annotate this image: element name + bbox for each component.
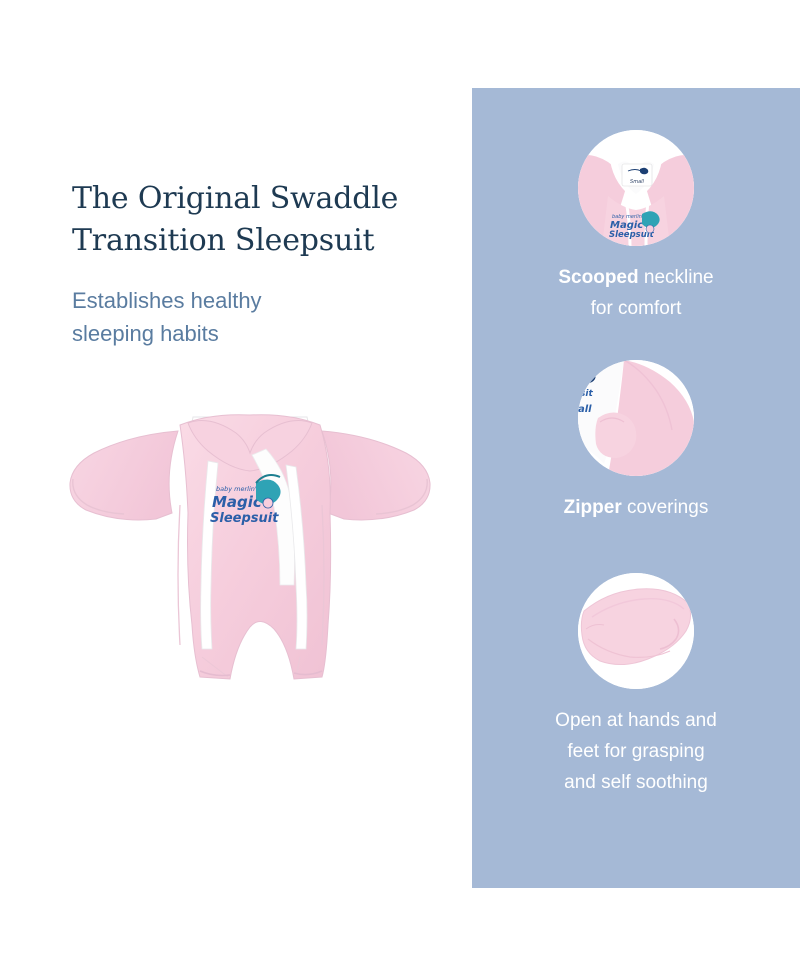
page-title-line-1: The Original Swaddle [72,178,452,220]
caption-line: Zipper coverings [472,492,800,523]
page-subtitle-line-1: Establishes healthy [72,284,412,317]
svg-text:sit: sit [580,389,593,399]
caption-line: Open at hands and [472,705,800,736]
page-title: The Original Swaddle Transition Sleepsui… [72,178,452,262]
svg-text:Sleepsuit: Sleepsuit [210,511,279,526]
svg-text:Small: Small [630,179,644,185]
feature-item-zipper-coverings: sit all Zipper coverings [472,360,800,523]
features-panel: Small baby merlin's Magic Sleepsuit Scoo… [472,88,800,888]
open-hands-feet-cuff-closeup-image [578,573,694,689]
feature-caption-open-hands-feet: Open at hands and feet for grasping and … [472,705,800,798]
product-image-sleepsuit: Small [60,395,440,785]
svg-text:Magic: Magic [212,493,262,511]
caption-line: and self soothing [472,767,800,798]
page-subtitle: Establishes healthy sleeping habits [72,284,412,350]
zipper-covering-closeup-image: sit all [578,360,694,476]
caption-rest: and self soothing [564,772,708,793]
caption-rest: feet for grasping [567,741,704,762]
page-subtitle-line-2: sleeping habits [72,317,412,350]
caption-line: feet for grasping [472,736,800,767]
svg-text:baby merlin's: baby merlin's [216,485,261,493]
feature-caption-zipper-coverings: Zipper coverings [472,492,800,523]
left-content-column: The Original Swaddle Transition Sleepsui… [0,0,472,977]
caption-rest: neckline [639,267,714,288]
caption-rest: for comfort [591,298,682,319]
svg-text:all: all [578,404,592,415]
scooped-neckline-closeup-image: Small baby merlin's Magic Sleepsuit [578,130,694,246]
page-title-line-2: Transition Sleepsuit [72,220,452,262]
caption-line: for comfort [472,293,800,324]
caption-strong: Scooped [558,267,638,288]
feature-item-open-hands-feet: Open at hands and feet for grasping and … [472,573,800,798]
caption-rest: coverings [622,497,709,518]
caption-line: Scooped neckline [472,262,800,293]
feature-item-scooped-neckline: Small baby merlin's Magic Sleepsuit Scoo… [472,130,800,324]
caption-rest: Open at hands and [555,710,717,731]
feature-caption-scooped-neckline: Scooped neckline for comfort [472,262,800,324]
sleeve-right [322,431,430,520]
caption-strong: Zipper [564,497,622,518]
sleeve-left [70,431,178,520]
